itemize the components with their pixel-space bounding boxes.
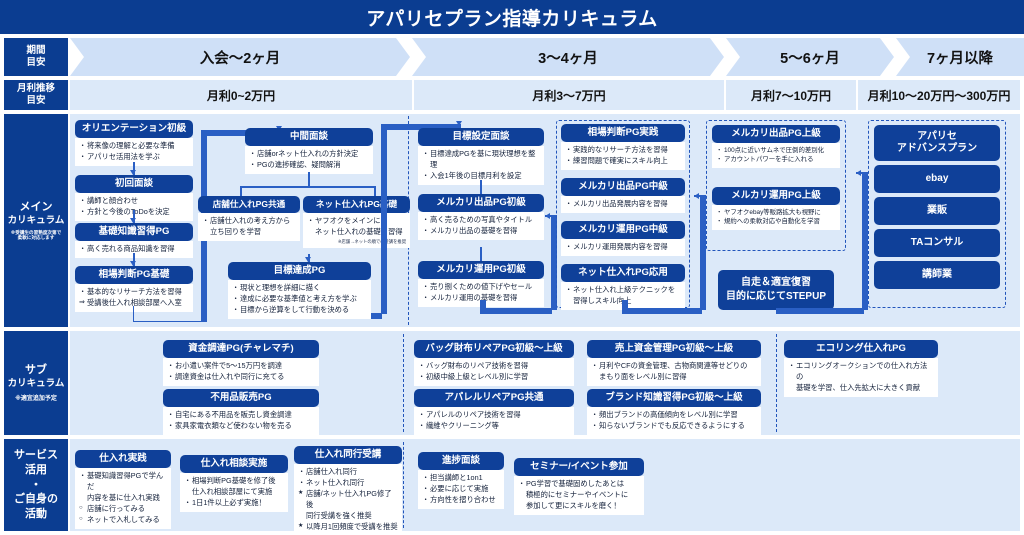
list-item: 参加して更にスキルを磨く！ <box>519 501 640 512</box>
connector <box>374 186 376 196</box>
card-store-common-title: 店舗仕入れPG共通 <box>198 196 300 213</box>
card-mercari-op-high-title: メルカリ運用PG上級 <box>712 187 840 205</box>
list-item: ネット仕入れの基礎を習得 <box>308 227 406 238</box>
list-item: ネット仕入れ同行 <box>299 478 398 489</box>
card-brand-knowledge-body: 頻出ブランドの高価傾向をレベル別に学習 知らないブランドでも反応できるようにする <box>587 407 761 435</box>
card-orientation-title: オリエンテーション初級 <box>75 120 193 138</box>
card-mercari-list-basic-title: メルカリ出品PG初級 <box>418 194 544 212</box>
list-item: 高く売るための写真やタイトル <box>423 215 540 226</box>
section-label-sub: サブ カリキュラム ※適宜追加予定 <box>4 331 68 435</box>
connector <box>480 300 486 310</box>
section-label-service-line3: ・ <box>31 478 42 493</box>
list-item: 目標から逆算をして行動を決める <box>233 305 367 316</box>
list-item: 内容を基に仕入れ実践 <box>80 493 167 504</box>
list-item: 店舗に行ってみる <box>80 504 167 515</box>
list-item: 同行受講を強く推奨 <box>299 511 398 522</box>
card-mercari-op-mid-body: メルカリ運用発展内容を習得 <box>561 239 685 256</box>
card-bag-repair-title: バッグ財布リペアPG初級～上級 <box>414 340 574 358</box>
list-item: 基礎を学習、仕入先拡大に大きく貢献 <box>789 383 934 394</box>
list-item: まもり面をレベル別に習得 <box>592 372 757 383</box>
card-mid-interview[interactable]: 中間面談 店舗orネット仕入れの方針決定 PGの進捗確認、疑問解消 <box>245 128 373 174</box>
list-item: 100点に近いサムネで圧倒的差別化 <box>717 146 836 156</box>
plan-gyohan[interactable]: 業販 <box>874 197 1000 225</box>
card-mercari-op-mid-title: メルカリ運用PG中級 <box>561 221 685 239</box>
card-mercari-list-mid[interactable]: メルカリ出品PG中級 メルカリ出品発展内容を習得 <box>561 178 685 213</box>
connector <box>480 247 482 261</box>
profit-row-label: 月利推移 目安 <box>4 80 68 110</box>
card-sales-fund[interactable]: 売上資金管理PG初級～上級 月利やCFの資金管理、古物商関連等せどりの まもり面… <box>587 340 761 386</box>
profit-row-label-line1: 月利推移 <box>17 83 55 95</box>
card-funding[interactable]: 資金調達PG(チャレマチ) お小遣い案件で5～15万円を調達 調達資金は仕入れや… <box>163 340 319 386</box>
list-item: 相場判断PG基礎を修了後 <box>185 476 284 487</box>
card-practice-title: 仕入れ実践 <box>75 450 171 468</box>
list-item: ネット仕入れ上級テクニックを <box>566 285 681 296</box>
card-store-common-body: 店舗仕入れの考え方から 立ち回りを学習 <box>198 213 300 241</box>
list-item: 練習問題で確実にスキル向上 <box>566 156 681 167</box>
card-consult-title: 仕入れ相談実施 <box>180 455 288 473</box>
connector <box>371 313 382 319</box>
list-item: 繊維やクリーニング等 <box>419 421 570 432</box>
connector-arrow-icon <box>694 193 699 199</box>
list-item: メルカリ出品発展内容を習得 <box>566 199 681 210</box>
card-net-basic-note: ※店舗→ネットの順での受講を推奨 <box>308 239 406 245</box>
card-practice-body: 基礎知識習得PGで学んだ 内容を基に仕入れ実践 店舗に行ってみる ネットで入札し… <box>75 468 171 529</box>
card-goal-interview-title: 目標設定面談 <box>418 128 544 146</box>
section-label-main: メイン カリキュラム ※受講生の習熟度次第で 柔軟に対応します <box>4 114 68 327</box>
page-title: アパリセプラン指導カリキュラム <box>366 4 658 31</box>
card-bag-repair-body: バッグ財布のリペア技術を習得 初級中級上級とレベル別に学習 <box>414 358 574 386</box>
list-item: 店舗仕入れの考え方から <box>203 216 296 227</box>
card-ecoring-body: エコリングオークションでの仕入れ方法の 基礎を学習、仕入先拡大に大きく貢献 <box>784 358 938 397</box>
list-item: 月利やCFの資金管理、古物商関連等せどりの <box>592 361 757 372</box>
card-basic-knowledge-title: 基礎知識習得PG <box>75 223 193 241</box>
curriculum-infographic: アパリセプラン指導カリキュラム 期間 目安 入会～2ヶ月 3～4ヶ月 5～6ヶ月… <box>0 0 1024 535</box>
list-item: 店舗orネット仕入れの方針決定 <box>250 149 369 160</box>
connector <box>240 186 376 188</box>
connector-arrow-icon <box>130 218 136 223</box>
connector <box>240 186 242 196</box>
list-item: アカウントパワーを手に入れる <box>717 155 836 165</box>
connector <box>551 215 557 310</box>
list-item: メルカリ運用発展内容を習得 <box>566 242 681 253</box>
card-apparel-repair-title: アパレルリペアPG共通 <box>414 389 574 407</box>
page-title-bar: アパリセプラン指導カリキュラム <box>0 0 1024 34</box>
card-market-basic-title: 相場判断PG基礎 <box>75 266 193 284</box>
card-market-practice-body: 実践的なリサーチ方法を習得 練習問題で確実にスキル向上 <box>561 142 685 170</box>
list-item: PG学習で基礎固めしたあとは <box>519 479 640 490</box>
connector <box>700 195 706 310</box>
card-market-practice-title: 相場判断PG実践 <box>561 124 685 142</box>
period-row-label-line1: 期間 <box>26 45 45 57</box>
card-selfstep[interactable]: 自走＆適宜復習 目的に応じてSTEPUP <box>718 270 834 310</box>
card-selfstep-line1: 自走＆適宜復習 <box>741 276 811 291</box>
list-item: ヤフオクをメインに <box>308 216 406 227</box>
list-item: 基礎知識習得PGで学んだ <box>80 471 167 493</box>
card-seminar-body: PG学習で基礎固めしたあとは 積極的にセミナーやイベントに 参加して更にスキルを… <box>514 476 644 515</box>
section-label-service-line4: ご自身の <box>14 492 58 507</box>
card-funding-title: 資金調達PG(チャレマチ) <box>163 340 319 358</box>
connector-arrow-icon <box>130 170 136 175</box>
card-market-practice[interactable]: 相場判断PG実践 実践的なリサーチ方法を習得 練習問題で確実にスキル向上 <box>561 124 685 170</box>
period-row-label: 期間 目安 <box>4 38 68 76</box>
list-item: バッグ財布のリペア技術を習得 <box>419 361 570 372</box>
card-market-basic[interactable]: 相場判断PG基礎 基本的なリサーチ方法を習得 受講後仕入れ相談部屋へ入室 <box>75 266 193 312</box>
list-item: 達成に必要な基準値と考え方を学ぶ <box>233 294 367 305</box>
list-item: 目標達成PGを基に現状理想を整理 <box>423 149 540 171</box>
card-practice[interactable]: 仕入れ実践 基礎知識習得PGで学んだ 内容を基に仕入れ実践 店舗に行ってみる ネ… <box>75 450 171 529</box>
list-item: 講師と顔合わせ <box>80 196 189 207</box>
profit-cell-1: 月利0~2万円 <box>70 80 412 110</box>
list-item: 店舗仕入れ同行 <box>299 467 398 478</box>
connector-arrow-icon <box>856 170 861 176</box>
list-item: 将来像の理解と必要な準備 <box>80 141 189 152</box>
list-item: ネットで入札してみる <box>80 515 167 526</box>
card-selfstep-line2: 目的に応じてSTEPUP <box>726 290 826 305</box>
list-item: エコリングオークションでの仕入れ方法の <box>789 361 934 383</box>
list-item: 頻出ブランドの高価傾向をレベル別に学習 <box>592 410 757 421</box>
card-accompany-body: 店舗仕入れ同行 ネット仕入れ同行 店舗/ネット仕入れPG修了後 同行受講を強く推… <box>294 464 402 535</box>
card-mid-interview-body: 店舗orネット仕入れの方針決定 PGの進捗確認、疑問解消 <box>245 146 373 174</box>
card-net-advanced-title: ネット仕入れPG応用 <box>561 264 685 282</box>
connector <box>480 308 552 314</box>
card-orientation[interactable]: オリエンテーション初級 将来像の理解と必要な準備 アパリセ活用法を学ぶ <box>75 120 193 166</box>
card-sales-fund-body: 月利やCFの資金管理、古物商関連等せどりの まもり面をレベル別に習得 <box>587 358 761 386</box>
period-chevron-2: 3～4ヶ月 <box>412 38 724 76</box>
card-goal-pg[interactable]: 目標達成PG 現状と理想を詳細に描く 達成に必要な基準値と考え方を学ぶ 目標から… <box>228 262 371 319</box>
card-accompany[interactable]: 仕入れ同行受講 店舗仕入れ同行 ネット仕入れ同行 店舗/ネット仕入れPG修了後 … <box>294 446 402 535</box>
card-brand-knowledge-title: ブランド知識習得PG初級～上級 <box>587 389 761 407</box>
list-item: ヤフオクebay等販路拡大も視野に <box>717 208 836 218</box>
list-item: 以降月1回頻度で受講を推奨 <box>299 522 398 533</box>
plan-instructor[interactable]: 講師業 <box>874 261 1000 289</box>
section-label-sub-note: ※適宜追加予定 <box>15 396 57 403</box>
card-apparel-repair-body: アパレルのリペア技術を習得 繊維やクリーニング等 <box>414 407 574 435</box>
list-item: 規約への柔軟対応や自動化を学習 <box>717 217 836 227</box>
card-mercari-list-high[interactable]: メルカリ出品PG上級 100点に近いサムネで圧倒的差別化 アカウントパワーを手に… <box>712 125 840 168</box>
connector-arrow-icon <box>545 213 550 219</box>
period-chevron-4: 7ヶ月以降 <box>896 38 1024 76</box>
card-bag-repair[interactable]: バッグ財布リペアPG初級～上級 バッグ財布のリペア技術を習得 初級中級上級とレベ… <box>414 340 574 386</box>
card-mercari-list-basic-body: 高く売るための写真やタイトル メルカリ出品の基礎を習得 <box>418 212 544 240</box>
list-item: 調達資金は仕入れや同行に充てる <box>168 372 315 383</box>
list-item: PGの進捗確認、疑問解消 <box>250 160 369 171</box>
connector <box>776 308 864 314</box>
card-seminar-title: セミナー/イベント参加 <box>514 458 644 476</box>
connector <box>308 172 310 186</box>
connector <box>622 308 702 314</box>
card-progress-body: 担当講師と1on1 必要に応じて実施 方向性を摺り合わせ <box>418 470 504 509</box>
profit-row-label-line2: 目安 <box>26 95 45 107</box>
list-item: 知らないブランドでも反応できるようにする <box>592 421 757 432</box>
section-label-service-line5: 活動 <box>25 507 47 522</box>
card-mercari-list-mid-body: メルカリ出品発展内容を習得 <box>561 196 685 213</box>
card-consult-body: 相場判断PG基礎を修了後 仕入れ相談部屋にて実施 1日1件以上必ず実施！ <box>180 473 288 512</box>
section-label-sub-line1: サブ <box>25 363 47 378</box>
list-item: 立ち回りを学習 <box>203 227 296 238</box>
card-goal-interview[interactable]: 目標設定面談 目標達成PGを基に現状理想を整理 入会1年後の目標月利を設定 <box>418 128 544 185</box>
list-item: 必要に応じて実施 <box>423 484 500 495</box>
card-goal-interview-body: 目標達成PGを基に現状理想を整理 入会1年後の目標月利を設定 <box>418 146 544 185</box>
connector-arrow-icon <box>456 121 462 126</box>
card-net-basic-body: ヤフオクをメインに ネット仕入れの基礎を習得 ※店舗→ネットの順での受講を推奨 <box>303 213 410 248</box>
card-mid-interview-title: 中間面談 <box>245 128 373 146</box>
section-label-main-line2: カリキュラム <box>8 215 65 228</box>
connector-arrow-icon <box>130 261 136 266</box>
plan-ebay[interactable]: ebay <box>874 165 1000 193</box>
section-label-sub-line2: カリキュラム <box>8 378 65 391</box>
list-item: 基本的なリサーチ方法を習得 <box>80 287 189 298</box>
plan-ta-consul[interactable]: TAコンサル <box>874 229 1000 257</box>
sub-divider-2 <box>776 334 777 432</box>
card-mercari-list-mid-title: メルカリ出品PG中級 <box>561 178 685 196</box>
list-item: 家具家電衣類など使わない物を売る <box>168 421 315 432</box>
period-chevron-1: 入会～2ヶ月 <box>70 38 410 76</box>
list-item: メルカリ出品の基礎を習得 <box>423 226 540 237</box>
connector <box>133 306 203 322</box>
card-ecoring[interactable]: エコリング仕入れPG エコリングオークションでの仕入れ方法の 基礎を学習、仕入先… <box>784 340 938 397</box>
card-brand-knowledge[interactable]: ブランド知識習得PG初級～上級 頻出ブランドの高価傾向をレベル別に学習 知らない… <box>587 389 761 435</box>
card-goal-pg-title: 目標達成PG <box>228 262 371 280</box>
card-seminar[interactable]: セミナー/イベント参加 PG学習で基礎固めしたあとは 積極的にセミナーやイベント… <box>514 458 644 515</box>
service-divider-1 <box>403 442 404 528</box>
card-store-common[interactable]: 店舗仕入れPG共通 店舗仕入れの考え方から 立ち回りを学習 <box>198 196 300 241</box>
card-mercari-op-mid[interactable]: メルカリ運用PG中級 メルカリ運用発展内容を習得 <box>561 221 685 256</box>
section-label-main-note: ※受講生の習熟度次第で 柔軟に対応します <box>11 230 61 241</box>
list-item: 初級中級上級とレベル別に学習 <box>419 372 570 383</box>
connector <box>622 300 628 310</box>
list-item: 実践的なリサーチ方法を習得 <box>566 145 681 156</box>
connector <box>480 180 482 194</box>
card-sales-fund-title: 売上資金管理PG初級～上級 <box>587 340 761 358</box>
list-item: 現状と理想を詳細に描く <box>233 283 367 294</box>
section-label-service-line2: 活用 <box>25 463 47 478</box>
card-net-basic[interactable]: ネット仕入れPG基礎 ヤフオクをメインに ネット仕入れの基礎を習得 ※店舗→ネッ… <box>303 196 410 248</box>
profit-row: 月利推移 目安 月利0~2万円 月利3～7万円 月利7～10万円 月利10～20… <box>0 80 1024 110</box>
card-progress-title: 進捗面談 <box>418 452 504 470</box>
card-unused-body: 自宅にある不用品を販売し資金調達 家具家電衣類など使わない物を売る <box>163 407 319 435</box>
list-item: 自宅にある不用品を販売し資金調達 <box>168 410 315 421</box>
card-unused[interactable]: 不用品販売PG 自宅にある不用品を販売し資金調達 家具家電衣類など使わない物を売… <box>163 389 319 435</box>
card-mercari-list-high-title: メルカリ出品PG上級 <box>712 125 840 143</box>
card-funding-body: お小遣い案件で5～15万円を調達 調達資金は仕入れや同行に充てる <box>163 358 319 386</box>
section-label-service: サービス 活用 ・ ご自身の 活動 <box>4 439 68 531</box>
card-mercari-list-basic[interactable]: メルカリ出品PG初級 高く売るための写真やタイトル メルカリ出品の基礎を習得 <box>418 194 544 240</box>
card-apparel-repair[interactable]: アパレルリペアPG共通 アパレルのリペア技術を習得 繊維やクリーニング等 <box>414 389 574 435</box>
period-row: 期間 目安 入会～2ヶ月 3～4ヶ月 5～6ヶ月 7ヶ月以降 <box>0 38 1024 76</box>
list-item: 売り捌くための値下げやセール <box>423 282 540 293</box>
card-first-interview-title: 初回面談 <box>75 175 193 193</box>
card-unused-title: 不用品販売PG <box>163 389 319 407</box>
list-item: 担当講師と1on1 <box>423 473 500 484</box>
profit-cell-3: 月利7～10万円 <box>726 80 856 110</box>
sub-divider-1 <box>403 334 404 432</box>
card-net-basic-title: ネット仕入れPG基礎 <box>303 196 410 213</box>
card-mercari-op-basic-title: メルカリ運用PG初級 <box>418 261 544 279</box>
card-mercari-op-high[interactable]: メルカリ運用PG上級 ヤフオクebay等販路拡大も視野に 規約への柔軟対応や自動… <box>712 187 840 230</box>
card-accompany-title: 仕入れ同行受講 <box>294 446 402 464</box>
list-item: 方向性を摺り合わせ <box>423 495 500 506</box>
plan-advance[interactable]: アパリセ アドバンスプラン <box>874 125 1000 161</box>
card-goal-pg-body: 現状と理想を詳細に描く 達成に必要な基準値と考え方を学ぶ 目標から逆算をして行動… <box>228 280 371 319</box>
card-ecoring-title: エコリング仕入れPG <box>784 340 938 358</box>
card-progress[interactable]: 進捗面談 担当講師と1on1 必要に応じて実施 方向性を摺り合わせ <box>418 452 504 509</box>
period-chevron-3: 5～6ヶ月 <box>726 38 894 76</box>
section-label-main-line1: メイン <box>20 200 53 215</box>
profit-cell-4: 月利10～20万円～300万円 <box>858 80 1020 110</box>
card-mercari-list-high-body: 100点に近いサムネで圧倒的差別化 アカウントパワーを手に入れる <box>712 143 840 168</box>
section-label-service-line1: サービス <box>14 448 58 463</box>
card-mercari-op-high-body: ヤフオクebay等販路拡大も視野に 規約への柔軟対応や自動化を学習 <box>712 205 840 230</box>
connector <box>381 124 387 314</box>
profit-cell-2: 月利3～7万円 <box>414 80 724 110</box>
list-item: 仕入れ相談部屋にて実施 <box>185 487 284 498</box>
period-row-label-line2: 目安 <box>26 57 45 69</box>
connector <box>862 172 868 310</box>
list-item: お小遣い案件で5～15万円を調達 <box>168 361 315 372</box>
list-item: 積極的にセミナーやイベントに <box>519 490 640 501</box>
list-item: 店舗/ネット仕入れPG修了後 <box>299 489 398 511</box>
list-item: 1日1件以上必ず実施！ <box>185 498 284 509</box>
list-item: アパレルのリペア技術を習得 <box>419 410 570 421</box>
card-consult[interactable]: 仕入れ相談実施 相場判断PG基礎を修了後 仕入れ相談部屋にて実施 1日1件以上必… <box>180 455 288 512</box>
